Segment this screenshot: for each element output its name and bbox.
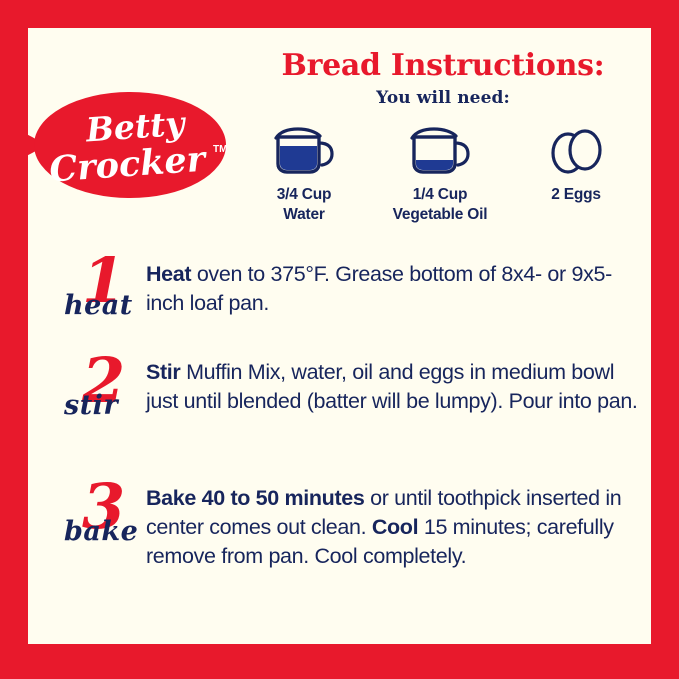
step-body: Muffin Mix, water, oil and eggs in mediu… — [146, 360, 638, 413]
spoon-shape-icon — [28, 92, 226, 198]
step-row: 2 stir Stir Muffin Mix, water, oil and e… — [48, 356, 640, 460]
measuring-cup-icon — [408, 124, 472, 176]
step-lead: Bake 40 to 50 minutes — [146, 486, 365, 510]
step-marker: 1 heat — [48, 256, 146, 334]
step-text: Bake 40 to 50 minutes or until toothpick… — [146, 482, 640, 572]
package-panel: Betty Crocker TM Bread Instructions: You… — [0, 0, 679, 679]
instruction-card: Betty Crocker TM Bread Instructions: You… — [28, 28, 651, 644]
ingredient-item-eggs: 2 Eggs — [512, 124, 640, 205]
svg-text:Betty: Betty — [84, 103, 189, 149]
eggs-icon — [547, 124, 605, 176]
measuring-cup-icon — [272, 124, 336, 176]
step-marker: 3 bake — [48, 482, 146, 590]
step-text: Heat oven to 375°F. Grease bottom of 8x4… — [146, 256, 640, 318]
ingredient-label: 2 Eggs — [551, 185, 601, 205]
svg-text:TM: TM — [213, 144, 227, 155]
page-title: Bread Instructions: — [238, 50, 648, 82]
brand-wordmark-icon: Betty Crocker TM — [48, 103, 227, 190]
step-keyword: stir — [64, 392, 118, 419]
step-body: oven to 375°F. Grease bottom of 8x4- or … — [146, 262, 612, 315]
step-lead: Heat — [146, 262, 191, 286]
ingredient-label-line1: 3/4 Cup — [277, 186, 332, 203]
ingredient-label: 3/4 Cup Water — [277, 185, 332, 226]
ingredient-label: 1/4 Cup Vegetable Oil — [393, 185, 488, 226]
step-text: Stir Muffin Mix, water, oil and eggs in … — [146, 356, 640, 416]
ingredient-label-line2: Vegetable Oil — [393, 206, 488, 223]
ingredients-row: 3/4 Cup Water 1/4 Cup Vegetable — [240, 124, 640, 226]
step-marker: 2 stir — [48, 356, 146, 460]
step-keyword: heat — [64, 292, 133, 319]
heading-block: Bread Instructions: You will need: — [238, 50, 648, 108]
step-lead-secondary: Cool — [372, 515, 418, 539]
step-row: 3 bake Bake 40 to 50 minutes or until to… — [48, 482, 640, 590]
ingredients-subtitle: You will need: — [238, 88, 648, 108]
ingredient-item-water: 3/4 Cup Water — [240, 124, 368, 226]
step-lead: Stir — [146, 360, 180, 384]
ingredient-label-line1: 1/4 Cup — [413, 186, 468, 203]
svg-text:Crocker: Crocker — [48, 138, 209, 190]
step-keyword: bake — [64, 518, 138, 545]
step-row: 1 heat Heat oven to 375°F. Grease bottom… — [48, 256, 640, 334]
ingredient-item-oil: 1/4 Cup Vegetable Oil — [376, 124, 504, 226]
betty-crocker-logo: Betty Crocker TM — [28, 90, 236, 200]
steps-list: 1 heat Heat oven to 375°F. Grease bottom… — [48, 256, 640, 612]
ingredient-label-line1: 2 Eggs — [551, 186, 601, 203]
ingredient-label-line2: Water — [283, 206, 325, 223]
